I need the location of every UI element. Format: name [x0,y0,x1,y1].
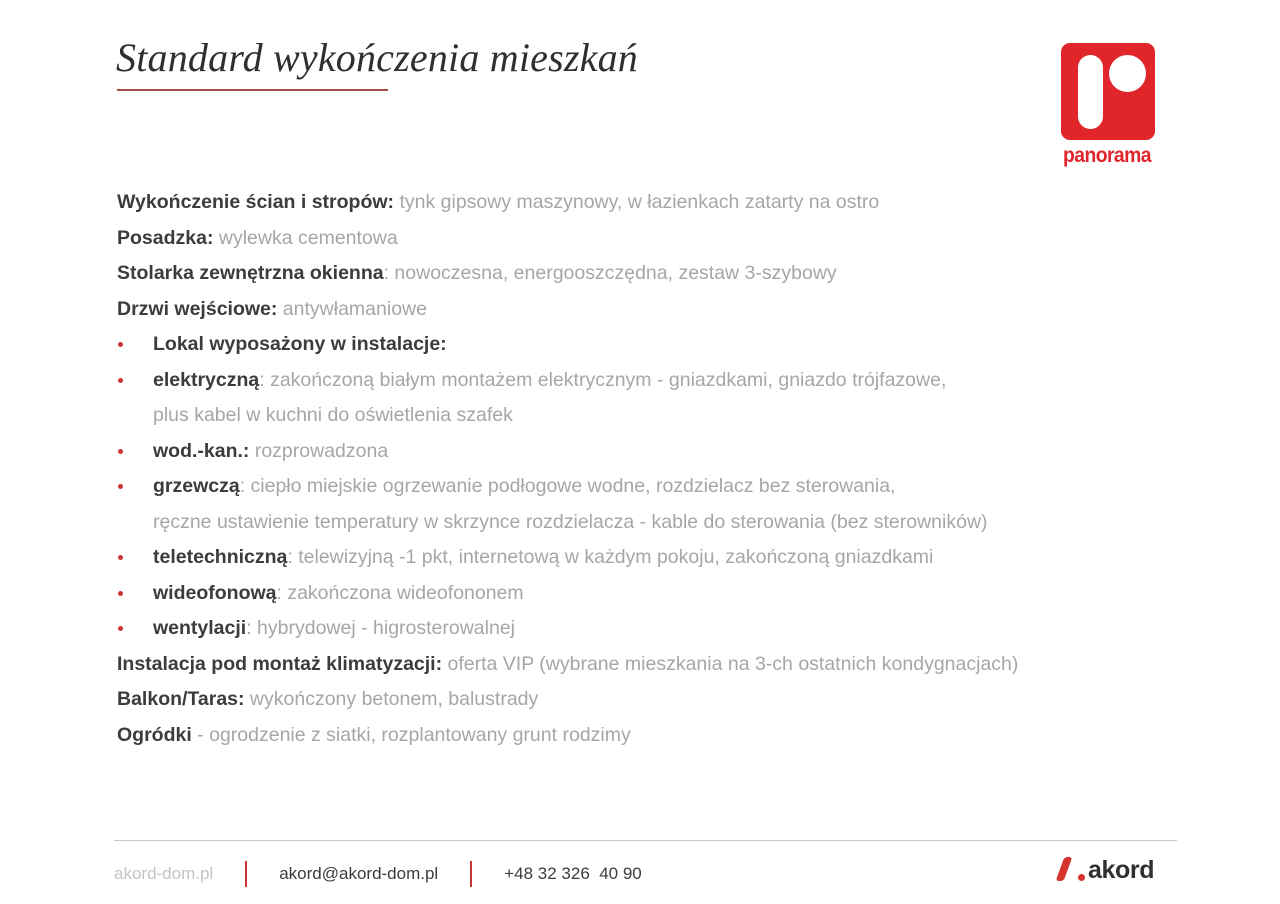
bullet-icon [118,555,123,560]
spec-label: Ogródki [117,724,192,746]
spec-value: : hybrydowej - higrosterowalnej [246,617,515,639]
spec-label: Stolarka zewnętrzna okienna [117,262,384,284]
footer-contact-group: akord-dom.pl akord@akord-dom.pl +48 32 3… [114,860,642,888]
spec-label: Balkon/Taras: [117,688,245,710]
spec-value: tynk gipsowy maszynowy, w łazienkach zat… [394,191,879,213]
spec-value: ręczne ustawienie temperatury w skrzynce… [153,511,988,533]
bullet-icon [118,484,123,489]
footer-separator-icon [245,861,247,887]
spec-bullet-line: Lokal wyposażony w instalacje: [0,327,1280,363]
footer-divider-rule [114,840,1177,841]
page-title: Standard wykończenia mieszkań [116,33,638,83]
spec-line: Instalacja pod montaż klimatyzacji: ofer… [0,647,1280,683]
akord-dot-shape [1078,874,1085,881]
title-underline-rule [117,89,388,91]
spec-line: Balkon/Taras: wykończony betonem, balust… [0,682,1280,718]
panorama-wordmark: panorama [1063,144,1151,168]
spec-bullet-line: teletechniczną: telewizyjną -1 pkt, inte… [0,540,1280,576]
spec-continuation-line: plus kabel w kuchni do oświetlenia szafe… [0,398,1280,434]
spec-list: Wykończenie ścian i stropów: tynk gipsow… [0,185,1280,753]
bullet-icon [118,449,123,454]
header: Standard wykończenia mieszkań panorama [0,0,1280,185]
spec-label: elektryczną [153,369,259,391]
spec-bullet-line: wod.-kan.: rozprowadzona [0,434,1280,470]
footer-phone-number[interactable]: +48 32 326 40 90 [504,861,642,887]
akord-logo: akord [1060,855,1180,887]
spec-value: - ogrodzenie z siatki, rozplantowany gru… [192,724,631,746]
bullet-icon [118,626,123,631]
panorama-logo: panorama [1061,43,1157,175]
bullet-icon [118,342,123,347]
spec-value: plus kabel w kuchni do oświetlenia szafe… [153,404,513,426]
spec-label: Lokal wyposażony w instalacje: [153,333,447,355]
spec-label: Instalacja pod montaż klimatyzacji: [117,653,442,675]
spec-line: Ogródki - ogrodzenie z siatki, rozplanto… [0,718,1280,754]
spec-value: wylewka cementowa [213,227,397,249]
panorama-square-icon [1061,43,1155,140]
spec-value: antywłamaniowe [277,298,427,320]
spec-value: rozprowadzona [249,440,388,462]
spec-label: teletechniczną [153,546,287,568]
footer-website-link[interactable]: akord-dom.pl [114,861,213,887]
spec-label: wideofonową [153,582,277,604]
akord-wordmark: akord [1088,856,1154,884]
footer-separator-icon [470,861,472,887]
spec-line: Wykończenie ścian i stropów: tynk gipsow… [0,185,1280,221]
spec-value: wykończony betonem, balustrady [245,688,539,710]
bullet-icon [118,378,123,383]
spec-bullet-line: wideofonową: zakończona wideofononem [0,576,1280,612]
spec-value: : zakończona wideofononem [277,582,524,604]
slide-page: Standard wykończenia mieszkań panorama W… [0,0,1280,904]
spec-label: wentylacji [153,617,246,639]
spec-label: Posadzka: [117,227,213,249]
spec-value: : nowoczesna, energooszczędna, zestaw 3-… [384,262,837,284]
spec-label: Drzwi wejściowe: [117,298,277,320]
spec-value: : telewizyjną -1 pkt, internetową w każd… [287,546,933,568]
panorama-bar-shape [1078,55,1103,129]
spec-line: Drzwi wejściowe: antywłamaniowe [0,292,1280,328]
spec-value: : zakończoną białym montażem elektryczny… [259,369,946,391]
spec-line: Posadzka: wylewka cementowa [0,221,1280,257]
spec-label: grzewczą [153,475,240,497]
footer-email-link[interactable]: akord@akord-dom.pl [279,861,438,887]
panorama-circle-shape [1109,55,1146,92]
spec-continuation-line: ręczne ustawienie temperatury w skrzynce… [0,505,1280,541]
spec-label: wod.-kan.: [153,440,249,462]
spec-bullet-line: grzewczą: ciepło miejskie ogrzewanie pod… [0,469,1280,505]
spec-value: : ciepło miejskie ogrzewanie podłogowe w… [240,475,896,497]
spec-bullet-line: elektryczną: zakończoną białym montażem … [0,363,1280,399]
spec-label: Wykończenie ścian i stropów: [117,191,394,213]
spec-line: Stolarka zewnętrzna okienna: nowoczesna,… [0,256,1280,292]
bullet-icon [118,591,123,596]
spec-bullet-line: wentylacji: hybrydowej - higrosterowalne… [0,611,1280,647]
spec-value: oferta VIP (wybrane mieszkania na 3-ch o… [442,653,1018,675]
